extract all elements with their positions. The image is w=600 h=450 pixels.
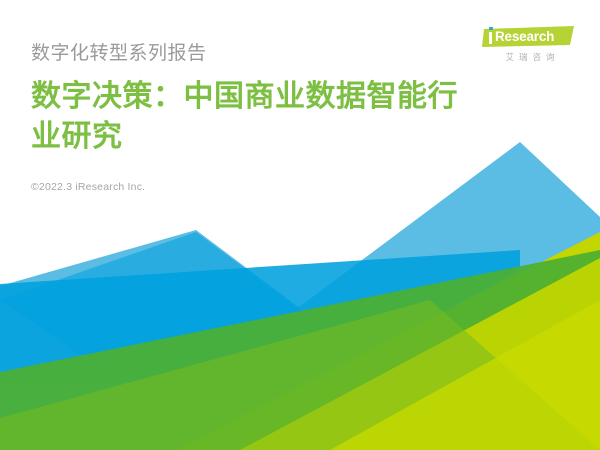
chartreuse-field-shape xyxy=(175,232,600,450)
logo-i-dot-icon xyxy=(489,27,493,31)
olive-overlay-shape xyxy=(240,258,600,450)
logo-wordmark: Research xyxy=(495,28,554,45)
blue-left-wedge-shape xyxy=(0,250,520,450)
blue-overlap-shape xyxy=(0,232,398,382)
blue-peak-left-shape xyxy=(0,230,398,382)
cover-text-block: 数字化转型系列报告 数字决策：中国商业数据智能行业研究 ©2022.3 iRes… xyxy=(31,40,501,193)
bright-wedge-shape xyxy=(330,300,600,450)
page-title: 数字决策：中国商业数据智能行业研究 xyxy=(31,77,481,157)
leaf-green-sliver-shape xyxy=(0,300,600,450)
report-series-label: 数字化转型系列报告 xyxy=(31,40,501,68)
copyright-notice: ©2022.3 iResearch Inc. xyxy=(31,181,501,193)
report-cover-slide: Research 艾瑞咨询 数字化转型系列报告 数字决策：中国商业数据智能行业研… xyxy=(0,0,600,450)
green-field-shape xyxy=(0,250,600,450)
